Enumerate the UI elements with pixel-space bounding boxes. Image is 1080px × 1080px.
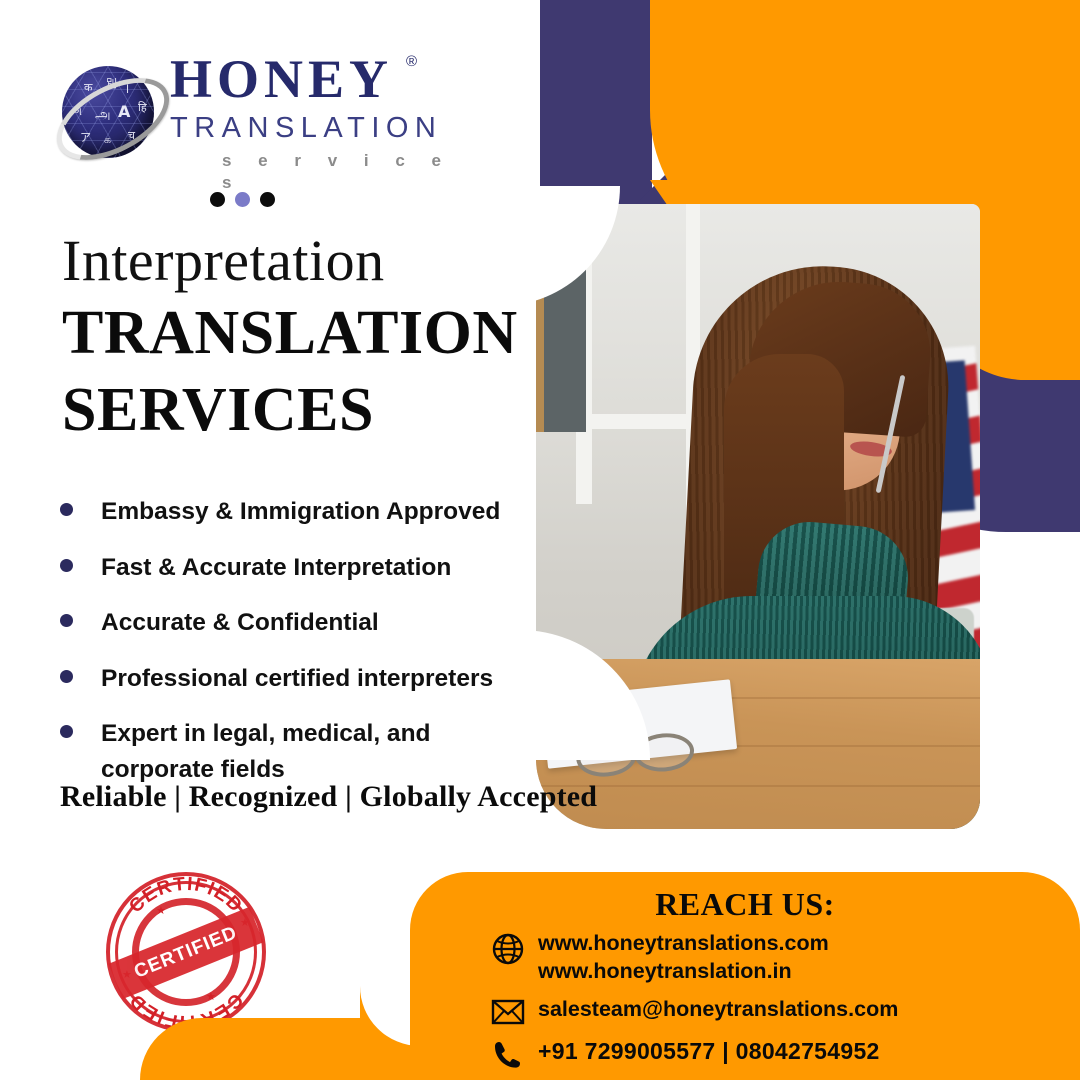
headline-script-line: Interpretation bbox=[62, 232, 532, 290]
globe-glyph: क bbox=[84, 82, 92, 93]
list-item: Accurate & Confidential bbox=[52, 605, 552, 641]
contact-row-website[interactable]: www.honeytranslations.com www.honeytrans… bbox=[488, 930, 1048, 985]
globe-languages-icon: क 別 ا ગ அ A हि ア க च bbox=[56, 60, 160, 164]
dot-3 bbox=[260, 192, 275, 207]
poster-canvas: क 別 ا ગ அ A हि ア க च HONEY ® TRANSLATION bbox=[0, 0, 1080, 1080]
bullet-icon bbox=[60, 503, 73, 516]
stamp-arc-top: CERTIFIED bbox=[125, 874, 246, 918]
bullet-icon bbox=[60, 559, 73, 572]
headline-bold-line-1: TRANSLATION bbox=[62, 300, 532, 367]
feature-list: Embassy & Immigration Approved Fast & Ac… bbox=[52, 494, 552, 807]
brand-name-sub: TRANSLATION bbox=[170, 110, 452, 146]
phone-icon bbox=[488, 1037, 528, 1071]
list-item-label: Professional certified interpreters bbox=[101, 661, 493, 697]
envelope-icon bbox=[488, 996, 528, 1026]
list-item-label: Fast & Accurate Interpretation bbox=[101, 550, 451, 586]
svg-text:CERTIFIED: CERTIFIED bbox=[125, 874, 246, 918]
contact-row-email[interactable]: salesteam@honeytranslations.com bbox=[488, 996, 1048, 1026]
registered-mark: ® bbox=[406, 54, 417, 69]
contact-panel: REACH US: www.honeytranslations.com www.… bbox=[410, 872, 1080, 1080]
brand-name-text: HONEY bbox=[170, 49, 393, 109]
bullet-icon bbox=[60, 670, 73, 683]
list-item: Expert in legal, medical, and corporate … bbox=[52, 716, 552, 787]
certified-stamp-icon: CERTIFIED CERTIFIED ★ ★ ★ ★ CERTIFIED bbox=[106, 872, 266, 1032]
website-url-2[interactable]: www.honeytranslation.in bbox=[538, 958, 829, 986]
phone-numbers[interactable]: +91 7299005577 | 08042754952 bbox=[538, 1037, 880, 1066]
brand-name-tag: s e r v i c e s bbox=[170, 150, 452, 194]
website-url-1[interactable]: www.honeytranslations.com bbox=[538, 930, 829, 958]
list-item-label: Accurate & Confidential bbox=[101, 605, 379, 641]
list-item-label: Expert in legal, medical, and corporate … bbox=[101, 716, 441, 787]
decorative-dots bbox=[210, 192, 275, 207]
email-address[interactable]: salesteam@honeytranslations.com bbox=[538, 996, 898, 1024]
list-item-label: Embassy & Immigration Approved bbox=[101, 494, 500, 530]
contact-row-phone[interactable]: +91 7299005577 | 08042754952 bbox=[488, 1037, 1048, 1071]
list-item: Professional certified interpreters bbox=[52, 661, 552, 697]
page-title: Interpretation TRANSLATION SERVICES bbox=[62, 232, 532, 444]
dot-2 bbox=[235, 192, 250, 207]
headline-bold-line-2: SERVICES bbox=[62, 377, 532, 444]
list-item: Fast & Accurate Interpretation bbox=[52, 550, 552, 586]
list-item: Embassy & Immigration Approved bbox=[52, 494, 552, 530]
tagline: Reliable | Recognized | Globally Accepte… bbox=[60, 780, 597, 814]
bullet-icon bbox=[60, 614, 73, 627]
contact-heading: REACH US: bbox=[410, 886, 1080, 923]
brand-name-main: HONEY ® bbox=[170, 52, 393, 106]
bullet-icon bbox=[60, 725, 73, 738]
globe-icon bbox=[488, 930, 528, 966]
company-logo[interactable]: क 別 ا ગ அ A हि ア க च HONEY ® TRANSLATION bbox=[52, 46, 452, 176]
dot-1 bbox=[210, 192, 225, 207]
